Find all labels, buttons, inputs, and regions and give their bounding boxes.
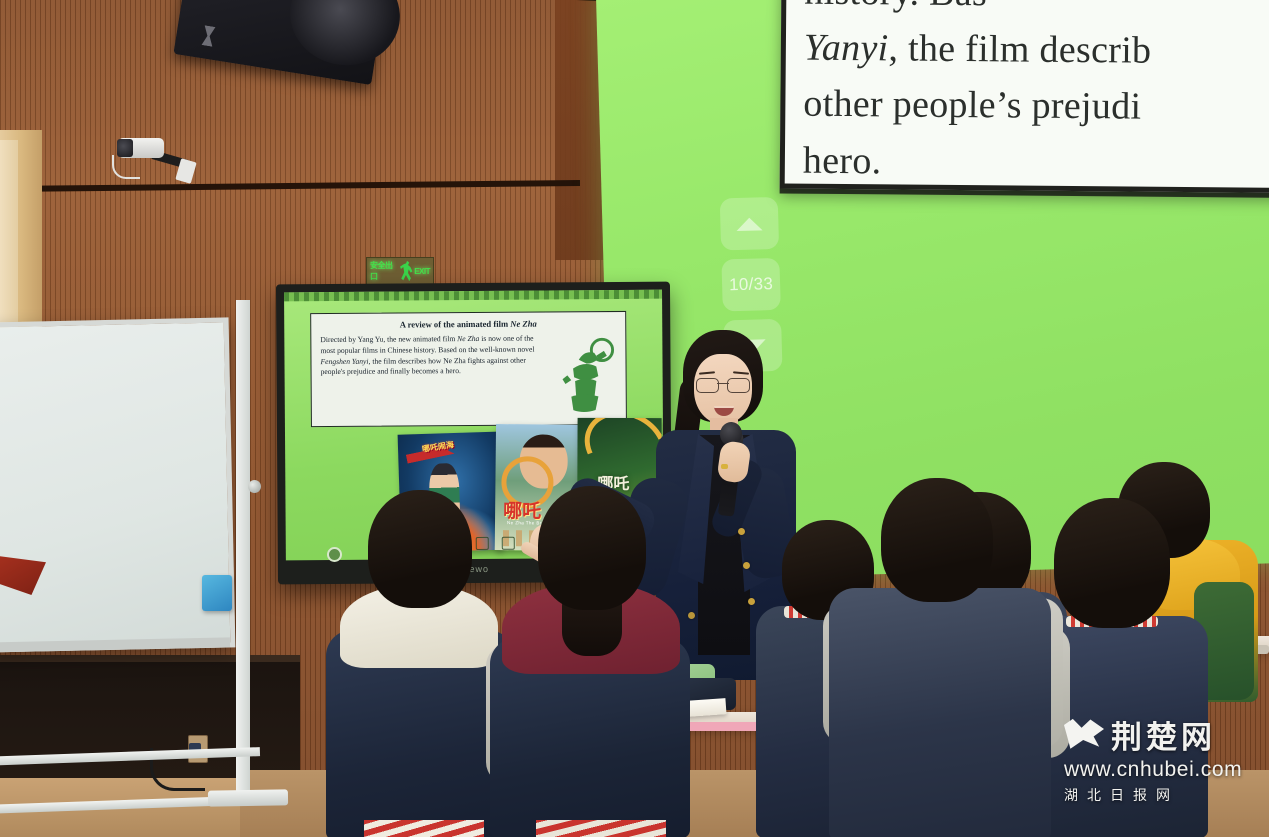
whiteboard-foot	[208, 789, 288, 806]
projected-document-text: history. Bas Yanyi, the film describ oth…	[803, 0, 1269, 193]
lower-wall-edge	[0, 655, 300, 662]
classroom-photo: 安全出口 EXIT history. Bas Yanyi, the film d…	[0, 0, 1269, 837]
triangle-up-icon	[736, 217, 762, 231]
projected-line-2: Yanyi, the film describ	[804, 20, 1269, 81]
jacket-button-2	[743, 562, 750, 569]
slide-title: A review of the animated film Ne Zha	[320, 318, 616, 330]
jacket-button-1	[738, 528, 745, 535]
student-body	[829, 588, 1051, 837]
exit-sign-cn-label: 安全出口	[370, 260, 399, 282]
camera-wire	[112, 155, 140, 179]
cnhubei-bird-logo-icon	[1064, 718, 1104, 752]
teacher-ring	[721, 464, 728, 469]
watermark-brand-row: 荆楚网	[1064, 712, 1264, 757]
whiteboard-post	[236, 300, 250, 800]
student-center-navy	[845, 478, 1035, 837]
slide-card: A review of the animated film Ne Zha Dir…	[310, 311, 627, 427]
student-waist-stripe	[364, 820, 484, 837]
student-head	[1054, 498, 1170, 628]
exit-sign: 安全出口 EXIT	[366, 257, 434, 285]
projected-document: history. Bas Yanyi, the film describ oth…	[780, 0, 1269, 193]
page-up-button[interactable]	[720, 197, 779, 251]
mobile-whiteboard-icon	[0, 317, 235, 652]
running-man-icon	[399, 261, 414, 281]
student-head	[538, 486, 646, 610]
exit-sign-en-label: EXIT	[414, 267, 430, 276]
projected-line-3: other people’s prejudi	[803, 76, 1269, 137]
lens-left	[696, 378, 719, 393]
lens-right	[727, 378, 750, 393]
student-head	[881, 478, 993, 602]
eyeglasses-icon	[696, 378, 750, 391]
student-white-hood	[330, 490, 510, 837]
slide-decor-strip	[284, 290, 662, 302]
slide-body-text: Directed by Yang Yu, the new animated fi…	[320, 334, 534, 379]
page-indicator: 10/33	[721, 258, 780, 312]
projected-line-4: hero.	[803, 132, 1269, 193]
watermark-brand-cn: 荆楚网	[1111, 712, 1216, 757]
board-eraser-icon	[202, 575, 232, 611]
student-head	[368, 490, 472, 608]
student-waist-stripe	[536, 820, 666, 837]
watermark-url: www.cnhubei.com	[1064, 758, 1264, 782]
jacket-button-3	[748, 598, 755, 605]
whiteboard-adjust-knob[interactable]	[248, 480, 261, 493]
jacket-button-4	[688, 612, 695, 619]
student-maroon-hood	[496, 486, 688, 837]
watermark: 荆楚网 www.cnhubei.com 湖北日报网	[1064, 712, 1264, 808]
watermark-subtitle: 湖北日报网	[1064, 785, 1264, 805]
ne-zha-papercut-icon	[559, 336, 618, 414]
